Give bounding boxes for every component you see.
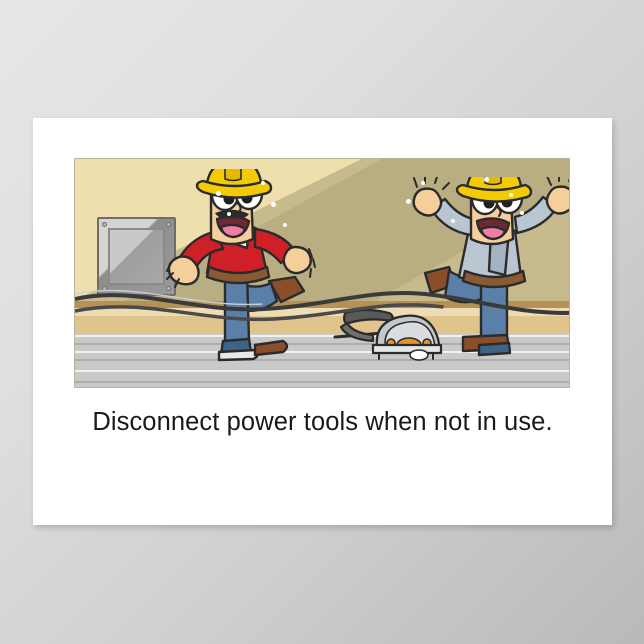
sparkle-dot-icon — [283, 223, 287, 227]
sparkle-dot-icon — [271, 202, 276, 207]
sparkle-dot-icon — [451, 219, 455, 223]
sparkle-dot-icon — [261, 181, 265, 185]
sparkle-dot-icon — [421, 181, 425, 185]
sparkle-dot-icon — [216, 191, 221, 196]
panel-screw-icon — [102, 222, 107, 227]
illustration-panel — [74, 158, 570, 388]
sparkle-dot-icon — [520, 211, 524, 215]
power-cable — [75, 279, 569, 339]
worker-left — [163, 169, 343, 384]
electrical-panel-inner — [108, 228, 165, 285]
sparkle-dot-icon — [227, 212, 231, 216]
sparkle-dot-icon — [406, 199, 411, 204]
poster-caption: Disconnect power tools when not in use. — [63, 406, 582, 438]
sparkle-dot-icon — [509, 193, 513, 197]
sparkle-dot-icon — [484, 177, 489, 182]
poster-sheet: Disconnect power tools when not in use. — [33, 118, 612, 525]
